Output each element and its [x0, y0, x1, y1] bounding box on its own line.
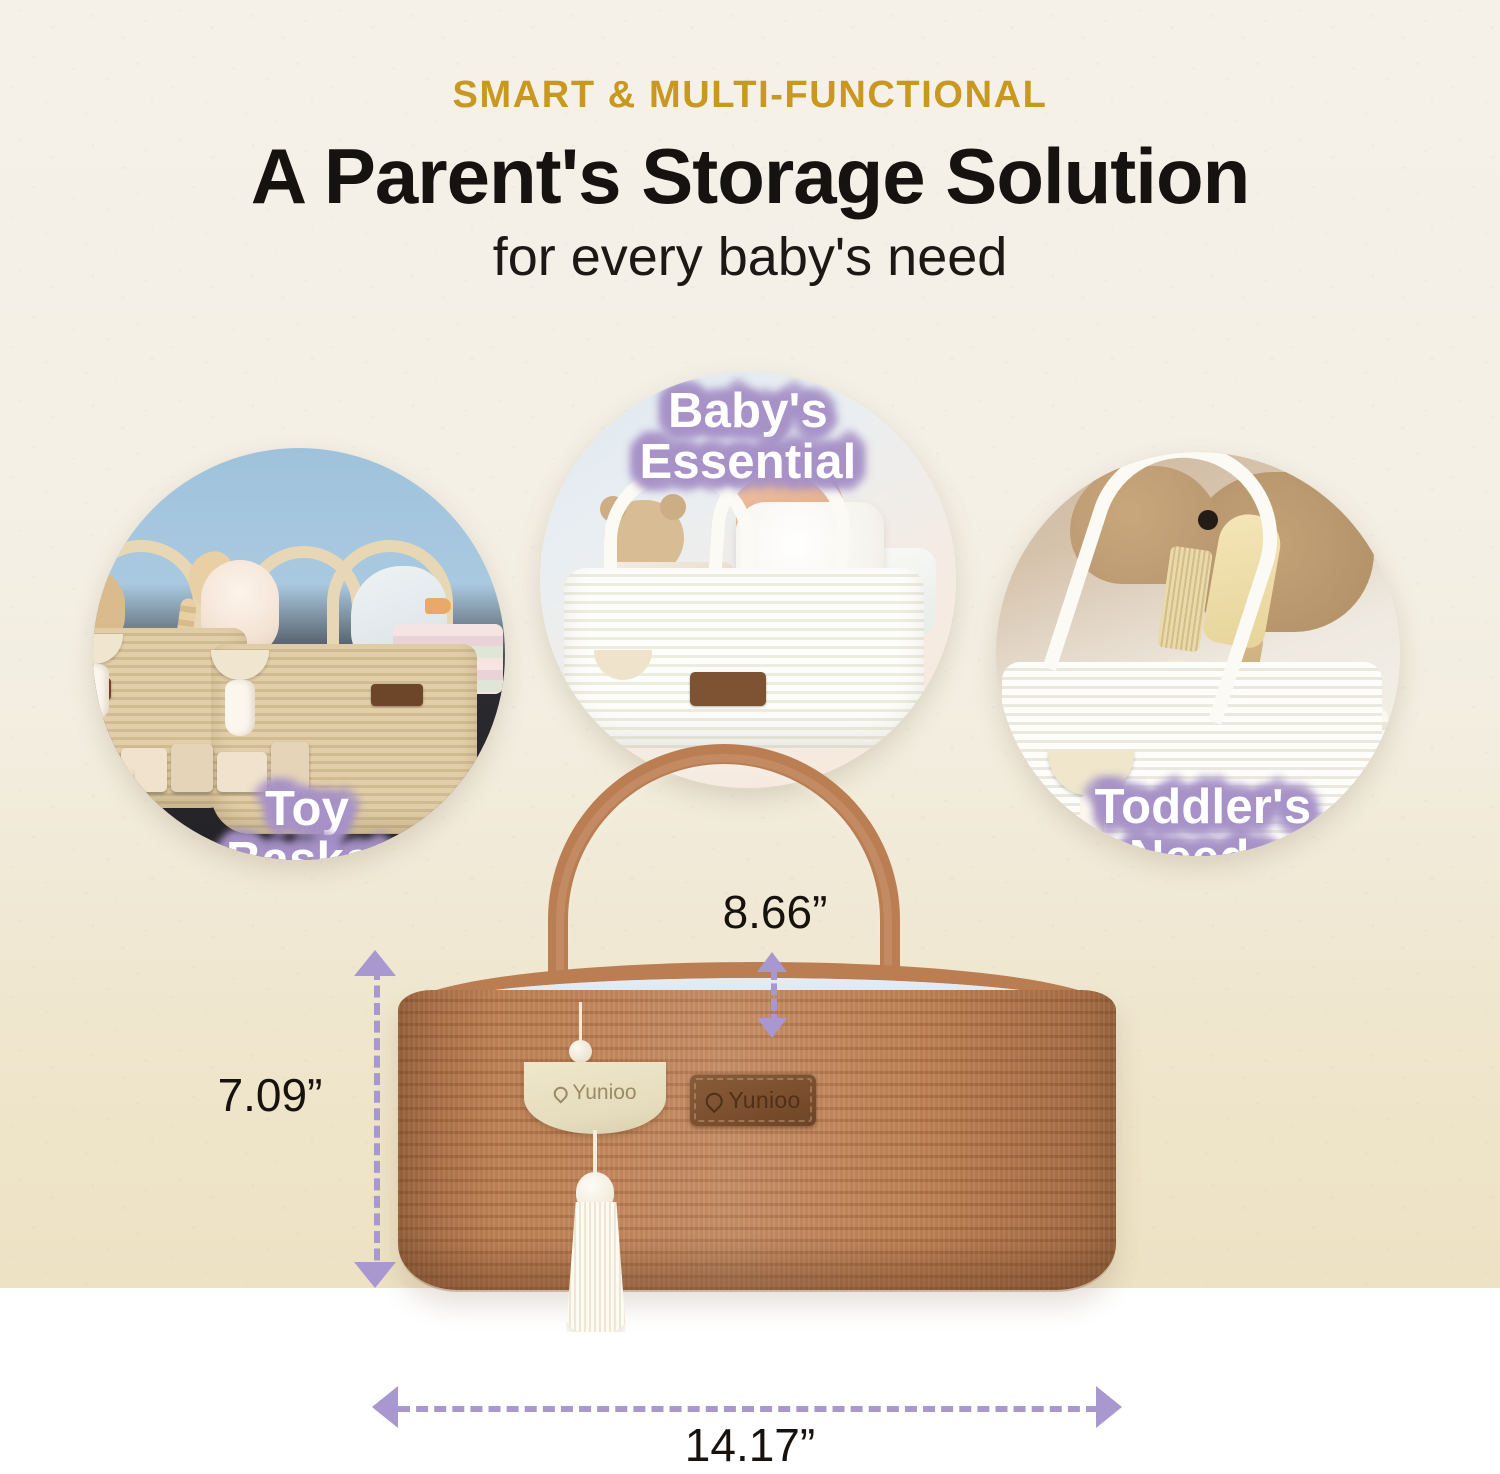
page-subtitle: for every baby's need — [0, 228, 1500, 287]
tassel — [93, 664, 109, 720]
tassel — [566, 1202, 626, 1332]
depth-arrow-head-down — [757, 1018, 787, 1038]
leather-patch — [690, 672, 766, 706]
width-dimension-label: 14.17” — [600, 1418, 900, 1472]
wooden-block — [93, 768, 133, 802]
width-arrow-head-left — [372, 1386, 398, 1428]
depth-dimension-label: 8.66” — [660, 885, 890, 939]
product-infographic: SMART & MULTI-FUNCTIONAL A Parent's Stor… — [0, 0, 1500, 1474]
width-dimension-line — [398, 1406, 1098, 1412]
width-arrow-head-right — [1096, 1386, 1122, 1428]
feature-circle-babys-essential: Baby's Essential — [540, 372, 956, 788]
eyebrow-text: SMART & MULTI-FUNCTIONAL — [0, 74, 1500, 117]
leather-brand-patch: Yunioo — [690, 1074, 816, 1126]
height-dimension-line — [374, 968, 380, 1278]
tassel — [225, 680, 255, 736]
heart-logo-icon — [703, 1089, 727, 1113]
height-dimension-label: 7.09” — [195, 1068, 345, 1122]
product-image-diaper-caddy: Yunioo Yunioo — [370, 740, 1130, 1300]
feature-label-babys-essential: Baby's Essential — [598, 386, 898, 488]
basket-bottom-shadow — [398, 1240, 1116, 1292]
goose-beak-icon — [425, 598, 451, 614]
wooden-bead — [569, 1040, 592, 1063]
page-title: A Parent's Storage Solution — [0, 134, 1500, 218]
leather-patch — [371, 684, 423, 706]
brand-name: Yunioo — [728, 1087, 800, 1114]
height-arrow-head-down — [354, 1262, 396, 1288]
brand-name: Yunioo — [572, 1081, 636, 1105]
heart-logo-icon — [551, 1084, 571, 1104]
feature-label-line-1: Baby's — [598, 386, 898, 437]
feature-label-line-2: Essential — [598, 437, 898, 488]
wooden-brand-tag: Yunioo — [524, 1062, 666, 1134]
